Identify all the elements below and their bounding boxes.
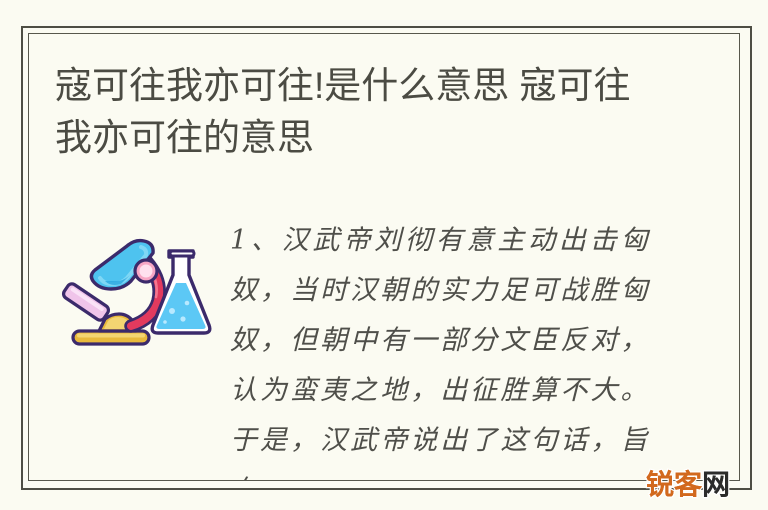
page-title: 寇可往我亦可往!是什么意思 寇可往我亦可往的意思 bbox=[55, 60, 655, 164]
article-body-text: 1、汉武帝刘彻有意主动出击匈奴，当时汉朝的实力足可战胜匈奴，但朝中有一部分文臣反… bbox=[230, 216, 650, 480]
watermark: 锐客网 bbox=[646, 470, 730, 500]
watermark-secondary-text: 网 bbox=[702, 468, 730, 501]
microscope-flask-illustration bbox=[59, 237, 214, 355]
article-body-area: 1、汉武帝刘彻有意主动出击匈奴，当时汉朝的实力足可战胜匈奴，但朝中有一部分文臣反… bbox=[29, 189, 739, 480]
microscope-lens-glow bbox=[135, 260, 157, 282]
microscope-base bbox=[73, 331, 149, 344]
screenshot-canvas: 寇可往我亦可往!是什么意思 寇可往我亦可往的意思 bbox=[0, 0, 768, 510]
microscope-icon bbox=[59, 237, 214, 355]
watermark-primary-text: 锐客 bbox=[646, 468, 702, 501]
article-content: 寇可往我亦可往!是什么意思 寇可往我亦可往的意思 bbox=[29, 34, 739, 480]
